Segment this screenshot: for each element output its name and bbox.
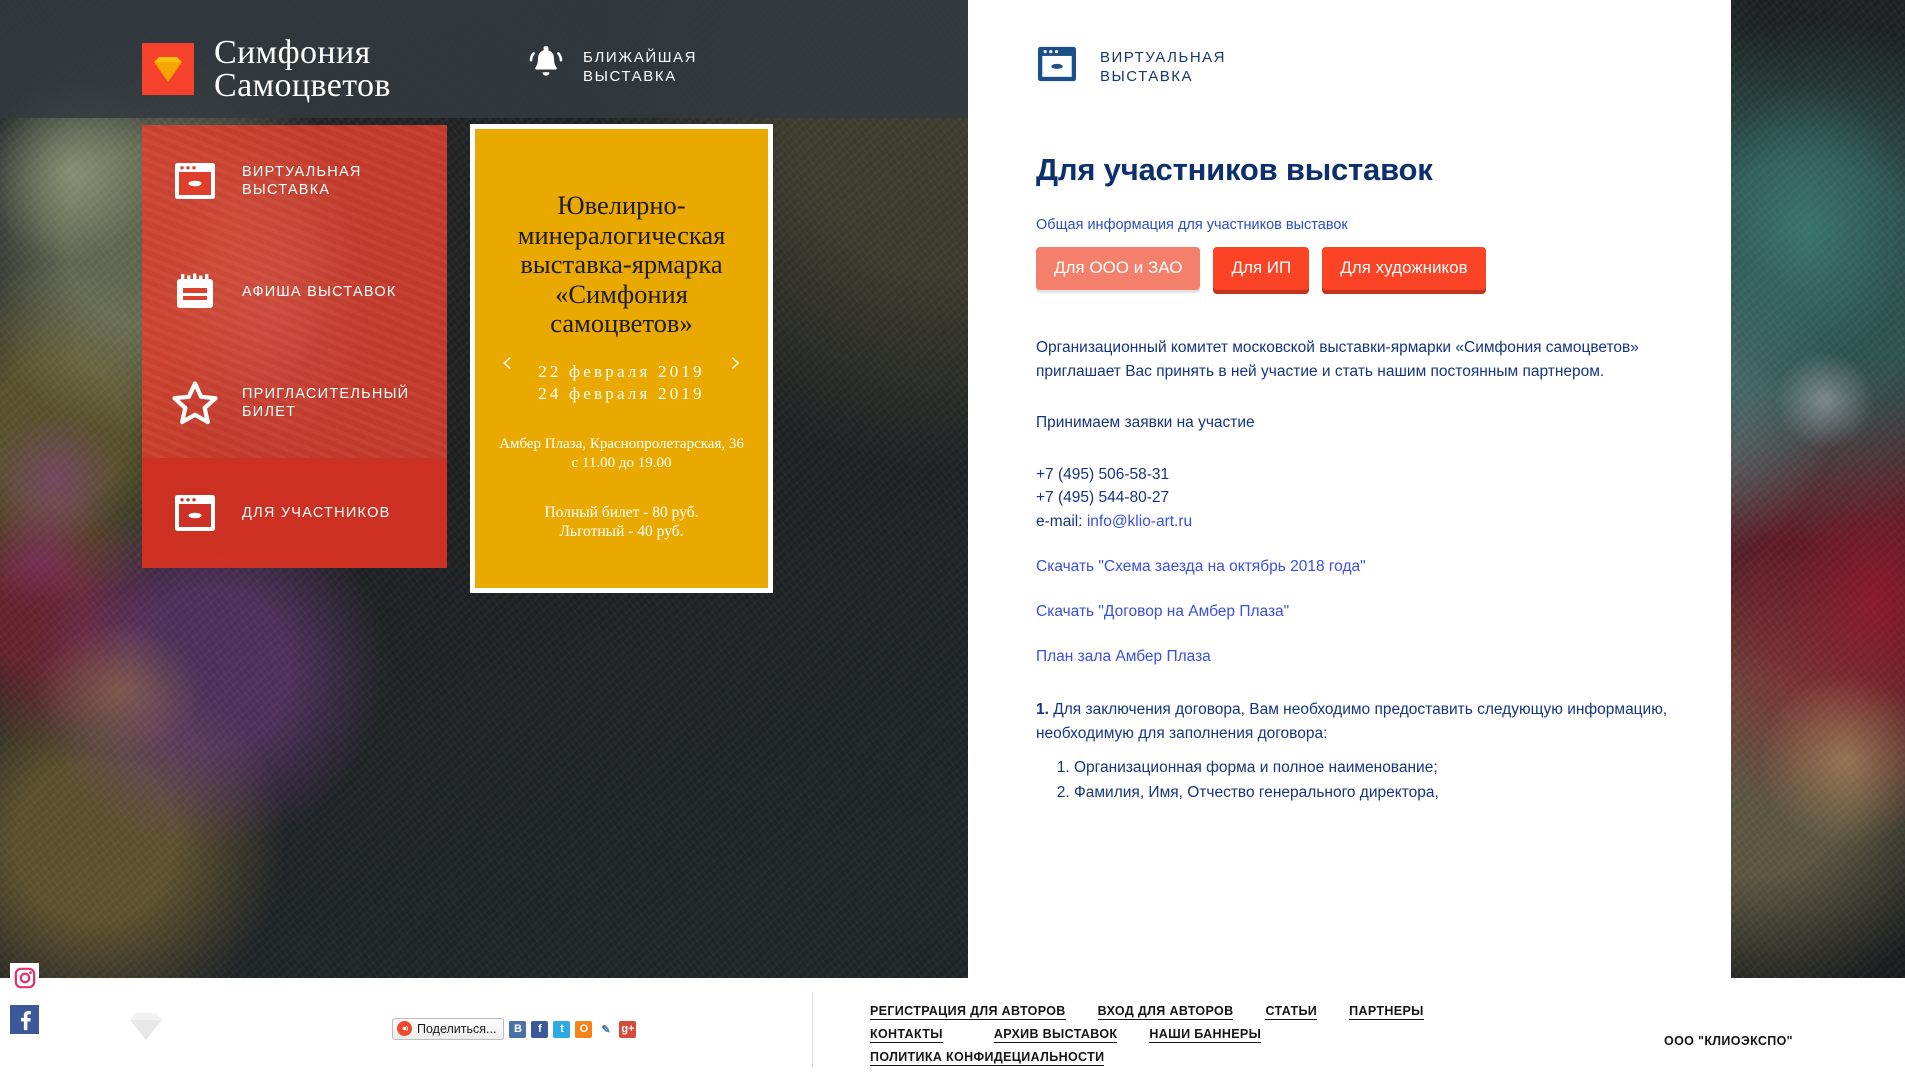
contract-requirements-list: Организационная форма и полное наименова… <box>1036 756 1671 805</box>
promo-price-reduced: Льготный - 40 руб. <box>493 522 750 541</box>
page-title: Для участников выставок <box>1036 152 1671 188</box>
virtual-window-icon <box>1036 45 1078 88</box>
exhibition-promo-card: Ювелирно- минералогическая выставка-ярма… <box>470 124 773 593</box>
promo-title: Ювелирно- минералогическая выставка-ярма… <box>493 191 750 339</box>
footer-link-author-login[interactable]: ВХОД ДЛЯ АВТОРОВ <box>1098 1004 1234 1020</box>
sidebar-item-label-line1: АФИША ВЫСТАВОК <box>242 283 397 301</box>
footer-nav-row: РЕГИСТРАЦИЯ ДЛЯ АВТОРОВ ВХОД ДЛЯ АВТОРОВ… <box>870 1004 1480 1020</box>
email-link[interactable]: info@klio-art.ru <box>1087 513 1192 530</box>
promo-title-line2: минералогическая <box>493 221 750 251</box>
download-schedule-link[interactable]: Скачать "Схема заезда на октябрь 2018 го… <box>1036 555 1671 578</box>
panel-section-title: ВИРТУАЛЬНАЯ ВЫСТАВКА <box>1100 48 1226 86</box>
participant-type-buttons: Для ООО и ЗАО Для ИП Для художников <box>1036 247 1671 290</box>
contract-requirements-lead: 1. Для заключения договора, Вам необходи… <box>1036 698 1671 746</box>
promo-hours: с 11.00 до 19.00 <box>493 454 750 473</box>
list-item: Организационная форма и полное наименова… <box>1074 756 1671 780</box>
footer-navigation: РЕГИСТРАЦИЯ ДЛЯ АВТОРОВ ВХОД ДЛЯ АВТОРОВ… <box>870 1004 1480 1073</box>
panel-section-header: ВИРТУАЛЬНАЯ ВЫСТАВКА <box>968 0 1731 88</box>
sidebar-item-label-line2: ВЫСТАВКА <box>242 181 362 199</box>
sidebar-item-label: ДЛЯ УЧАСТНИКОВ <box>242 504 391 522</box>
sidebar-item-label-line2: БИЛЕТ <box>242 403 409 421</box>
promo-prices: Полный билет - 80 руб. Льготный - 40 руб… <box>493 503 750 541</box>
list-number: 1. <box>1036 701 1049 718</box>
sidebar-item-label: АФИША ВЫСТАВОК <box>242 283 397 301</box>
phone-primary[interactable]: +7 (495) 506-58-31 <box>1036 466 1169 483</box>
facebook-icon[interactable]: f <box>531 1021 548 1038</box>
applications-paragraph: Принимаем заявки на участие <box>1036 411 1671 435</box>
share-label: Поделиться... <box>417 1022 496 1036</box>
contact-block: +7 (495) 506-58-31 +7 (495) 544-80-27 e-… <box>1036 463 1671 534</box>
promo-next-arrow-icon[interactable]: › <box>730 348 742 378</box>
promo-price-full: Полный билет - 80 руб. <box>493 503 750 522</box>
email-label: e-mail: <box>1036 513 1087 530</box>
sidebar-item-for-participants[interactable]: ДЛЯ УЧАСТНИКОВ <box>142 458 447 568</box>
gem-diamond-icon <box>142 43 194 95</box>
nearest-exhibition-label: БЛИЖАЙШАЯ ВЫСТАВКА <box>583 48 697 86</box>
company-name: ООО "КЛИОЭКСПО" <box>1664 1034 1793 1048</box>
button-for-ip[interactable]: Для ИП <box>1213 247 1309 290</box>
footer-link-articles[interactable]: СТАТЬИ <box>1265 1004 1317 1020</box>
brand-line-2: Самоцветов <box>214 69 391 102</box>
promo-title-line5: самоцветов» <box>493 309 750 339</box>
panel-head-line2: ВЫСТАВКА <box>1100 67 1226 86</box>
virtual-window-icon <box>172 490 218 536</box>
promo-prev-arrow-icon[interactable]: ‹ <box>501 348 513 378</box>
button-for-artists[interactable]: Для художников <box>1322 247 1485 290</box>
promo-title-line4: «Симфония <box>493 280 750 310</box>
intro-paragraph: Организационный комитет московской выста… <box>1036 336 1671 383</box>
sidebar-item-virtual-exhibition[interactable]: ВИРТУАЛЬНАЯ ВЫСТАВКА <box>142 125 447 236</box>
promo-date-to: 24 февраля 2019 <box>493 383 750 405</box>
share-icon <box>397 1021 412 1036</box>
facebook-float-button[interactable] <box>10 1005 39 1034</box>
sidebar-item-exhibition-poster[interactable]: АФИША ВЫСТАВОК <box>142 236 447 347</box>
calendar-poster-icon <box>172 269 218 315</box>
footer-link-exhibition-archive[interactable]: АРХИВ ВЫСТАВОК <box>994 1027 1118 1043</box>
phone-secondary[interactable]: +7 (495) 544-80-27 <box>1036 489 1169 506</box>
promo-dates: 22 февраля 2019 24 февраля 2019 <box>493 361 750 405</box>
footer-link-privacy-policy[interactable]: ПОЛИТИКА КОНФИДЕЦИАЛЬНОСТИ <box>870 1050 1104 1066</box>
nearest-line-1: БЛИЖАЙШАЯ <box>583 48 697 67</box>
download-contract-link[interactable]: Скачать "Договор на Амбер Плаза" <box>1036 600 1671 623</box>
panel-body: Для участников выставок Общая информация… <box>968 152 1731 805</box>
share-widget: Поделиться... В f t О ✎ g+ <box>392 1018 636 1040</box>
virtual-window-icon <box>172 158 218 204</box>
livejournal-icon[interactable]: ✎ <box>597 1021 614 1038</box>
page-subtitle: Общая информация для участников выставок <box>1036 217 1671 233</box>
page-root: Симфония Самоцветов БЛИЖАЙШАЯ ВЫСТАВКА <box>0 0 1905 1080</box>
footer-link-contacts[interactable]: КОНТАКТЫ <box>870 1027 943 1043</box>
sidebar-item-label-line1: ДЛЯ УЧАСТНИКОВ <box>242 504 391 522</box>
sidebar-item-label-line1: ВИРТУАЛЬНАЯ <box>242 163 362 181</box>
sidebar-item-label: ВИРТУАЛЬНАЯ ВЫСТАВКА <box>242 163 362 199</box>
promo-title-line3: выставка-ярмарка <box>493 250 750 280</box>
footer-link-author-registration[interactable]: РЕГИСТРАЦИЯ ДЛЯ АВТОРОВ <box>870 1004 1066 1020</box>
facebook-icon <box>10 1005 39 1034</box>
bell-icon <box>527 44 565 89</box>
nearest-line-2: ВЫСТАВКА <box>583 67 697 86</box>
instagram-icon <box>10 963 39 992</box>
sidebar-item-invitation-ticket[interactable]: ПРИГЛАСИТЕЛЬНЫЙ БИЛЕТ <box>142 347 447 458</box>
promo-address-line: Амбер Плаза, Краснопролетарская, 36 <box>493 435 750 454</box>
site-header: Симфония Самоцветов БЛИЖАЙШАЯ ВЫСТАВКА <box>0 0 968 118</box>
promo-title-line1: Ювелирно- <box>493 191 750 221</box>
footer-divider <box>812 992 813 1067</box>
main-navigation-menu: ВИРТУАЛЬНАЯ ВЫСТАВКА АФИША ВЫСТАВОК <box>142 125 447 568</box>
site-footer: Поделиться... В f t О ✎ g+ РЕГИСТРАЦИЯ Д… <box>0 978 1905 1080</box>
google-plus-icon[interactable]: g+ <box>619 1021 636 1038</box>
hall-plan-link[interactable]: План зала Амбер Плаза <box>1036 645 1671 668</box>
logo[interactable]: Симфония Самоцветов <box>142 36 391 102</box>
share-button[interactable]: Поделиться... <box>392 1018 504 1040</box>
list-item: Фамилия, Имя, Отчество генерального дире… <box>1074 781 1671 805</box>
gem-diamond-icon <box>128 1010 164 1047</box>
sidebar-item-label: ПРИГЛАСИТЕЛЬНЫЙ БИЛЕТ <box>242 385 409 421</box>
footer-nav-row: ПОЛИТИКА КОНФИДЕЦИАЛЬНОСТИ <box>870 1050 1480 1066</box>
promo-address: Амбер Плаза, Краснопролетарская, 36 с 11… <box>493 435 750 473</box>
promo-content: Ювелирно- минералогическая выставка-ярма… <box>475 129 768 588</box>
button-for-ooo-zao[interactable]: Для ООО и ЗАО <box>1036 247 1200 290</box>
vk-icon[interactable]: В <box>509 1021 526 1038</box>
content-panel: ВИРТУАЛЬНАЯ ВЫСТАВКА Для участников выст… <box>968 0 1731 978</box>
panel-head-line1: ВИРТУАЛЬНАЯ <box>1100 48 1226 67</box>
footer-link-partners[interactable]: ПАРТНЕРЫ <box>1349 1004 1424 1020</box>
nearest-exhibition-link[interactable]: БЛИЖАЙШАЯ ВЫСТАВКА <box>527 44 697 89</box>
twitter-icon[interactable]: t <box>553 1021 570 1038</box>
brand-title: Симфония Самоцветов <box>214 36 391 102</box>
promo-date-from: 22 февраля 2019 <box>493 361 750 383</box>
sidebar-item-label-line1: ПРИГЛАСИТЕЛЬНЫЙ <box>242 385 409 403</box>
list-lead-text: Для заключения договора, Вам необходимо … <box>1036 701 1667 742</box>
footer-link-our-banners[interactable]: НАШИ БАННЕРЫ <box>1149 1027 1261 1043</box>
instagram-float-button[interactable] <box>10 963 39 992</box>
star-icon <box>172 380 218 426</box>
footer-nav-row: КОНТАКТЫ АРХИВ ВЫСТАВОК НАШИ БАННЕРЫ <box>870 1027 1480 1043</box>
odnoklassniki-icon[interactable]: О <box>575 1021 592 1038</box>
brand-line-1: Симфония <box>214 36 391 69</box>
